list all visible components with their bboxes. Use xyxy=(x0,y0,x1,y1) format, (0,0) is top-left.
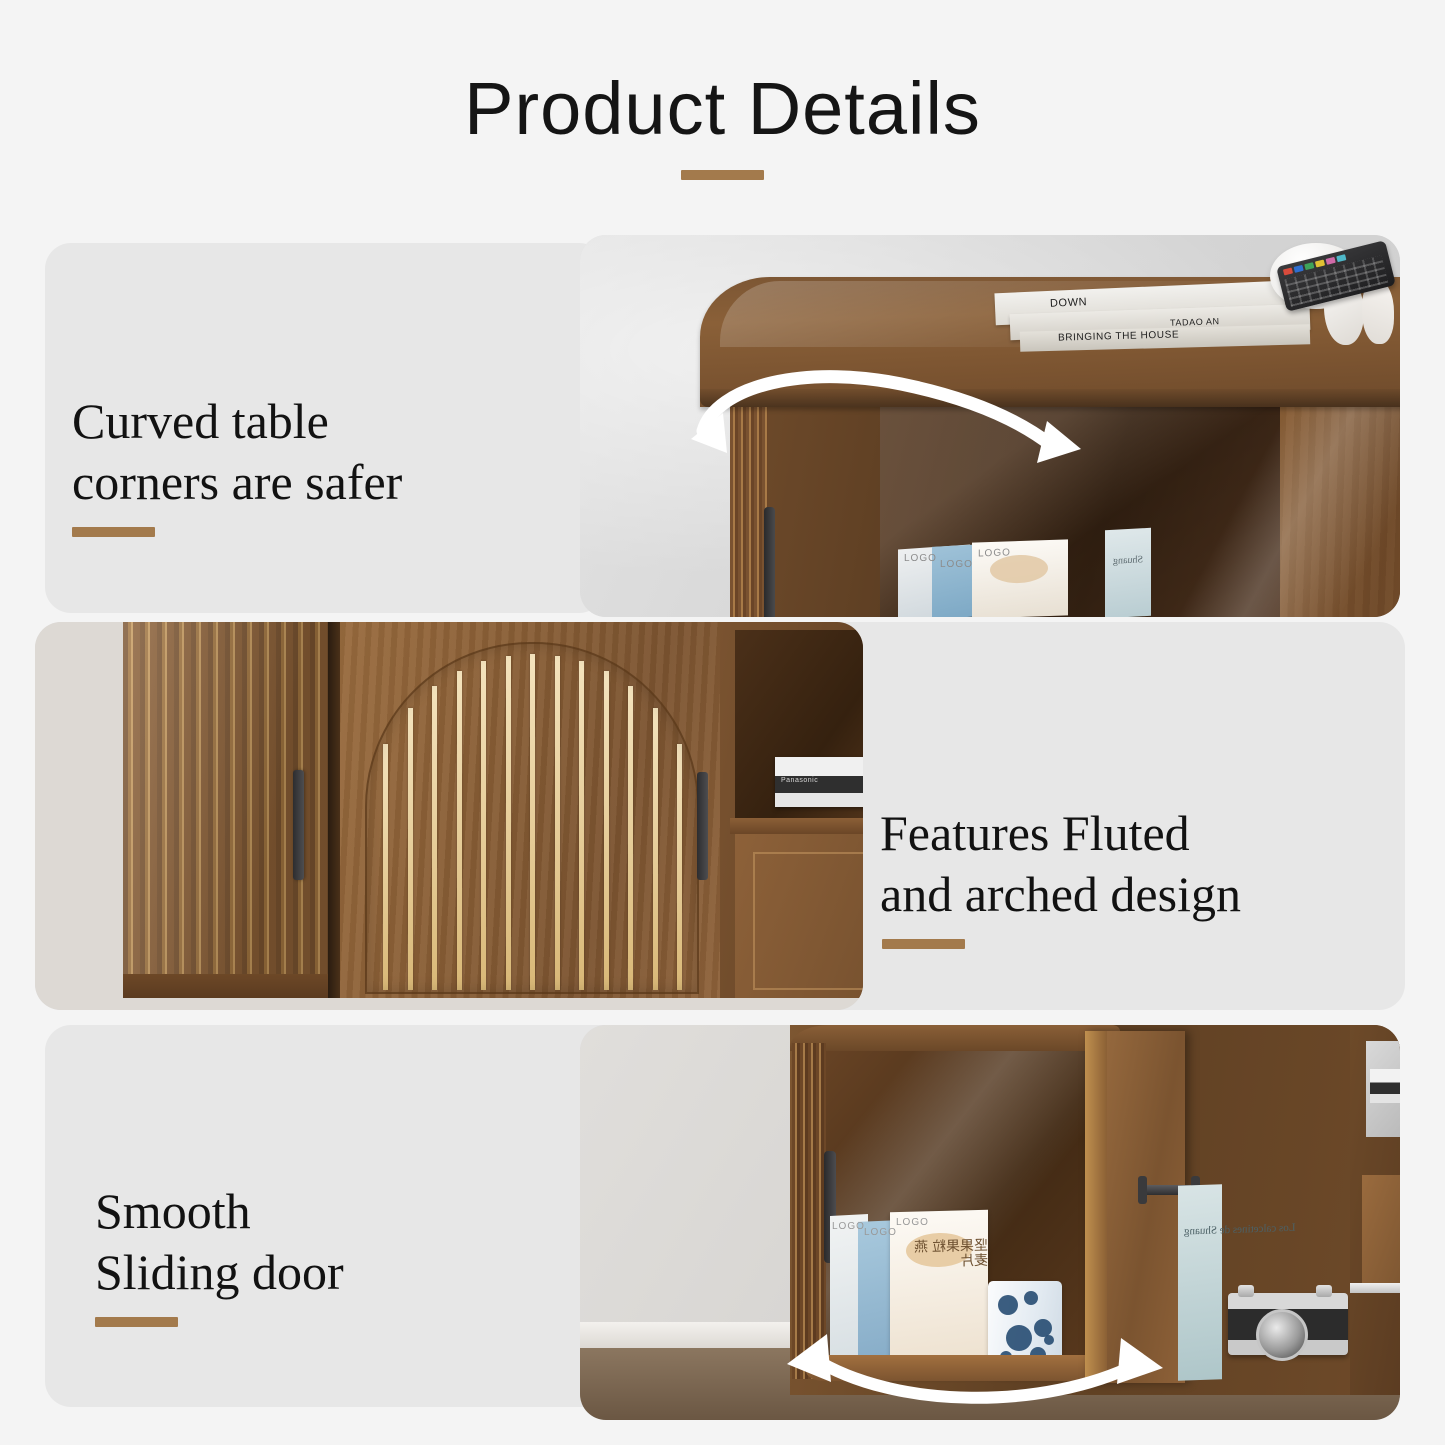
package-logo: LOGO xyxy=(864,1227,897,1238)
magazine-logo: LOGO xyxy=(978,547,1011,559)
feature-caption-sliding-door: Smooth Sliding door xyxy=(95,1120,575,1388)
shelf-board xyxy=(730,818,863,834)
caption-accent-bar xyxy=(95,1317,178,1327)
remote-color-button xyxy=(1315,259,1325,267)
feature-caption-text: Curved table corners are safer xyxy=(72,393,402,510)
feature-caption-text: Features Fluted and arched design xyxy=(880,805,1241,922)
bar-handle xyxy=(697,772,708,880)
feature-caption-fluted-arched: Features Fluted and arched design xyxy=(880,742,1385,1010)
magazine: LOGO xyxy=(972,539,1068,617)
book-title-text: DOWN xyxy=(1050,296,1088,310)
magazine-logo: LOGO xyxy=(904,553,937,564)
arch-outline xyxy=(365,642,699,994)
bar-handle xyxy=(293,770,304,880)
camera-knob xyxy=(1316,1285,1332,1297)
media-box xyxy=(1370,1069,1400,1103)
camera-lens xyxy=(1256,1309,1308,1361)
feature-photo-curved-corners: LOGO LOGO LOGO Shuang DOWN TADAO AN BRIN… xyxy=(580,235,1400,617)
book-title-text: TADAO AN xyxy=(1170,316,1220,328)
vintage-camera xyxy=(1228,1293,1348,1355)
tin-label-dot xyxy=(998,1295,1018,1315)
magazine-logo: LOGO xyxy=(940,559,973,570)
package-text: 坚果果粒 燕麦片 xyxy=(914,1238,988,1271)
drawer-rail xyxy=(1350,1283,1400,1293)
book-spine-text: Shuang xyxy=(1113,554,1143,567)
remote-color-button xyxy=(1283,267,1293,275)
page-title: Product Details xyxy=(0,70,1445,148)
remote-color-button xyxy=(1336,254,1346,262)
remote-color-button xyxy=(1304,262,1314,270)
feature-photo-fluted-arched: Panasonic xyxy=(35,622,863,1010)
door-gap xyxy=(328,622,340,998)
light-shaft xyxy=(1140,395,1400,617)
title-accent-bar xyxy=(681,170,764,180)
package-logo: LOGO xyxy=(896,1217,929,1228)
book: Shuang xyxy=(1105,528,1151,617)
feature-caption-curved-corners: Curved table corners are safer xyxy=(72,330,592,598)
device-label: Panasonic xyxy=(781,777,818,784)
drawer xyxy=(1362,1175,1400,1283)
tin-label-dot xyxy=(1024,1291,1038,1305)
page-header: Product Details xyxy=(0,70,1445,180)
caption-accent-bar xyxy=(72,527,155,537)
media-player: Panasonic xyxy=(775,757,863,807)
remote-color-button xyxy=(1294,265,1304,273)
feature-photo-sliding-door: 坚果果粒 燕麦片 LOGO LOGO LOGO Los calcetines d… xyxy=(580,1025,1400,1420)
drawer xyxy=(735,834,863,998)
feature-caption-text: Smooth Sliding door xyxy=(95,1183,344,1300)
caption-accent-bar xyxy=(882,939,965,949)
double-curved-arrow-icon xyxy=(765,1324,1185,1416)
curved-arrow-icon xyxy=(685,353,1085,543)
camera-knob xyxy=(1238,1285,1254,1297)
fluted-door-base xyxy=(123,974,328,998)
cabinet-curved-top xyxy=(790,1025,1120,1051)
remote-color-button xyxy=(1326,257,1336,265)
product-details-page: Product Details Curved table corners are… xyxy=(0,0,1445,1445)
package-logo: LOGO xyxy=(832,1221,865,1232)
